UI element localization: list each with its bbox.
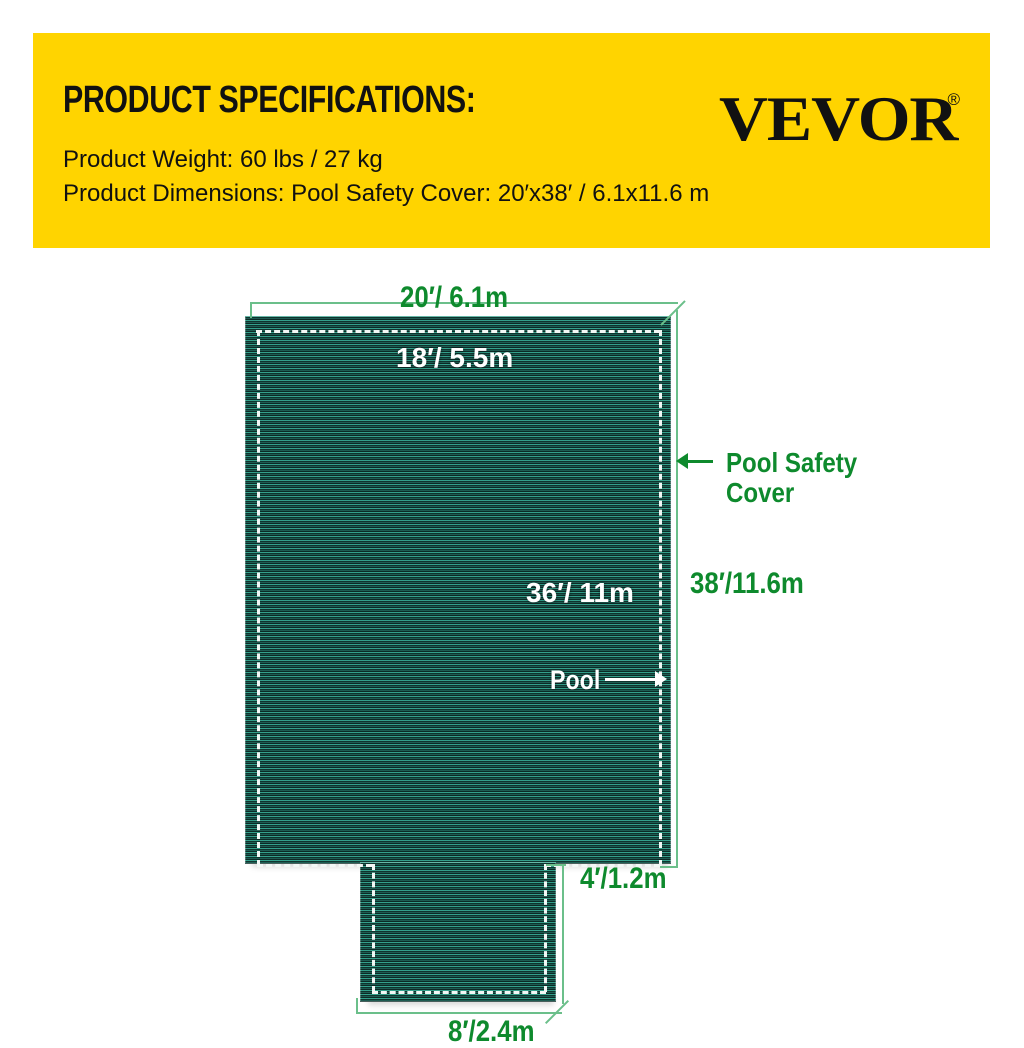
dimension-tick-step-top [546, 864, 566, 866]
specification-list: Product Weight: 60 lbs / 27 kg Product D… [63, 143, 709, 211]
label-top-outer-width: 20′/ 6.1m [400, 282, 508, 314]
label-pool-callout: Pool [550, 666, 600, 694]
spec-line-product-dimensions: Product Dimensions: Pool Safety Cover: 2… [63, 177, 709, 211]
dimension-line-step-height [562, 864, 564, 1004]
dimension-line-step-width [356, 1012, 562, 1014]
label-top-inner-width: 18′/ 5.5m [396, 343, 513, 372]
dimension-line-right-height [676, 310, 678, 868]
label-cover-callout-line2: Cover [726, 478, 794, 507]
dimension-tick-top-right [660, 300, 685, 325]
spec-line-product-weight: Product Weight: 60 lbs / 27 kg [63, 143, 709, 177]
specifications-banner: PRODUCT SPECIFICATIONS: Product Weight: … [33, 33, 990, 248]
cover-step-panel [360, 862, 556, 1002]
product-spec-page: PRODUCT SPECIFICATIONS: Product Weight: … [0, 0, 1024, 1024]
vevor-wordmark: VEVOR [719, 89, 957, 149]
dimension-tick-top-left [250, 302, 252, 318]
pool-cover-diagram: 20′/ 6.1m 38′/11.6m 4′/1.2m 8′/2.4m Pool… [0, 248, 1024, 1024]
cover-callout-arrow-head-icon [676, 453, 688, 469]
pool-callout-arrow-head-icon [655, 671, 667, 687]
label-step-width: 8′/2.4m [448, 1016, 535, 1048]
label-right-outer-height: 38′/11.6m [690, 568, 804, 600]
page-title: PRODUCT SPECIFICATIONS: [63, 81, 475, 119]
vevor-logo: VEVOR ® [719, 89, 960, 149]
pool-callout-arrow-line [605, 678, 659, 681]
label-step-height: 4′/1.2m [580, 863, 667, 895]
label-cover-callout-line1: Pool Safety [726, 448, 857, 477]
label-inner-height: 36′/ 11m [526, 578, 634, 607]
dimension-tick-step-bottom-left [356, 998, 358, 1014]
